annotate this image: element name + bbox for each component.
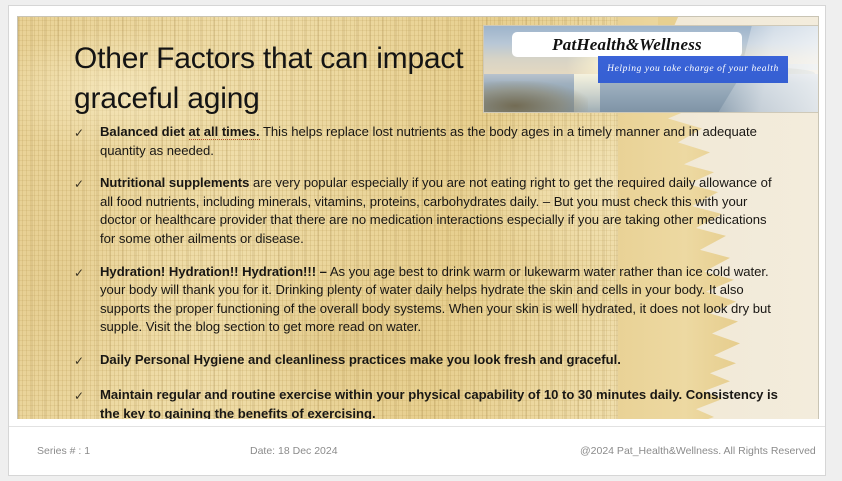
bullet-list: ✓ Balanced diet at all times. This helps… xyxy=(74,123,784,427)
slide-canvas[interactable]: PatHealth&Wellness Helping you take char… xyxy=(17,16,819,427)
checkmark-icon: ✓ xyxy=(74,123,100,160)
checkmark-icon: ✓ xyxy=(74,386,100,423)
bullet-item-routine-exercise[interactable]: ✓ Maintain regular and routine exercise … xyxy=(74,386,784,423)
checkmark-icon: ✓ xyxy=(74,263,100,337)
banner-brand-text: PatHealth&Wellness xyxy=(512,32,742,57)
checkmark-icon: ✓ xyxy=(74,351,100,371)
bullet-item-nutritional-supplements[interactable]: ✓ Nutritional supplements are very popul… xyxy=(74,174,784,248)
footer-series-number: Series # : 1 xyxy=(37,441,90,461)
banner-tagline-text: Helping you take charge of your health xyxy=(598,56,788,83)
footer-copyright: @2024 Pat_Health&Wellness. All Rights Re… xyxy=(580,441,816,461)
bullet-text: Hydration! Hydration!! Hydration!!! – As… xyxy=(100,263,784,337)
bullet-text: Balanced diet at all times. This helps r… xyxy=(100,123,784,160)
slide-title[interactable]: Other Factors that can impact graceful a… xyxy=(74,39,474,119)
banner-foreground-foliage xyxy=(484,81,588,112)
bullet-text: Daily Personal Hygiene and cleanliness p… xyxy=(100,351,784,371)
bullet-lead: Balanced diet xyxy=(100,124,189,139)
pathealth-wellness-banner-image[interactable]: PatHealth&Wellness Helping you take char… xyxy=(483,25,819,113)
bullet-text: Maintain regular and routine exercise wi… xyxy=(100,386,784,423)
page-card: PatHealth&Wellness Helping you take char… xyxy=(8,5,826,476)
slide-footer: Series # : 1 Date: 18 Dec 2024 @2024 Pat… xyxy=(9,426,825,475)
bullet-item-personal-hygiene[interactable]: ✓ Daily Personal Hygiene and cleanliness… xyxy=(74,351,784,371)
footer-date: Date: 18 Dec 2024 xyxy=(250,441,338,461)
bullet-item-balanced-diet[interactable]: ✓ Balanced diet at all times. This helps… xyxy=(74,123,784,160)
checkmark-icon: ✓ xyxy=(74,174,100,248)
footer-row: Series # : 1 Date: 18 Dec 2024 @2024 Pat… xyxy=(9,441,825,461)
bullet-item-hydration[interactable]: ✓ Hydration! Hydration!! Hydration!!! – … xyxy=(74,263,784,337)
bullet-lead: Nutritional supplements xyxy=(100,175,249,190)
bullet-lead: Hydration! Hydration!! Hydration!!! – xyxy=(100,264,327,279)
bullet-lead-underlined: at all times. xyxy=(189,124,260,140)
bullet-text: Nutritional supplements are very popular… xyxy=(100,174,784,248)
